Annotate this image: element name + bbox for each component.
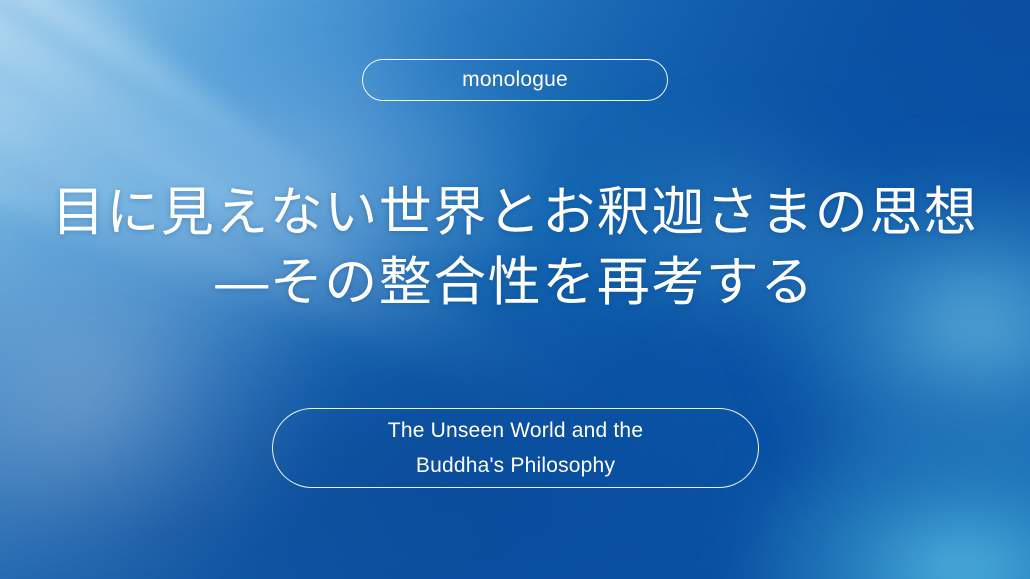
title-line-1: 目に見えない世界とお釈迦さまの思想 [0,178,1030,248]
title-slide: monologue 目に見えない世界とお釈迦さまの思想 ―その整合性を再考する … [0,0,1030,579]
title-line-2: ―その整合性を再考する [0,248,1030,318]
subtitle-line-1: The Unseen World and the [388,415,643,446]
subtitle-line-2: Buddha's Philosophy [416,450,615,481]
subtitle-badge: The Unseen World and the Buddha's Philos… [272,408,759,488]
slide-content: monologue 目に見えない世界とお釈迦さまの思想 ―その整合性を再考する … [0,0,1030,579]
page-title: 目に見えない世界とお釈迦さまの思想 ―その整合性を再考する [0,178,1030,318]
category-badge-label: monologue [462,68,568,92]
category-badge: monologue [362,59,668,101]
